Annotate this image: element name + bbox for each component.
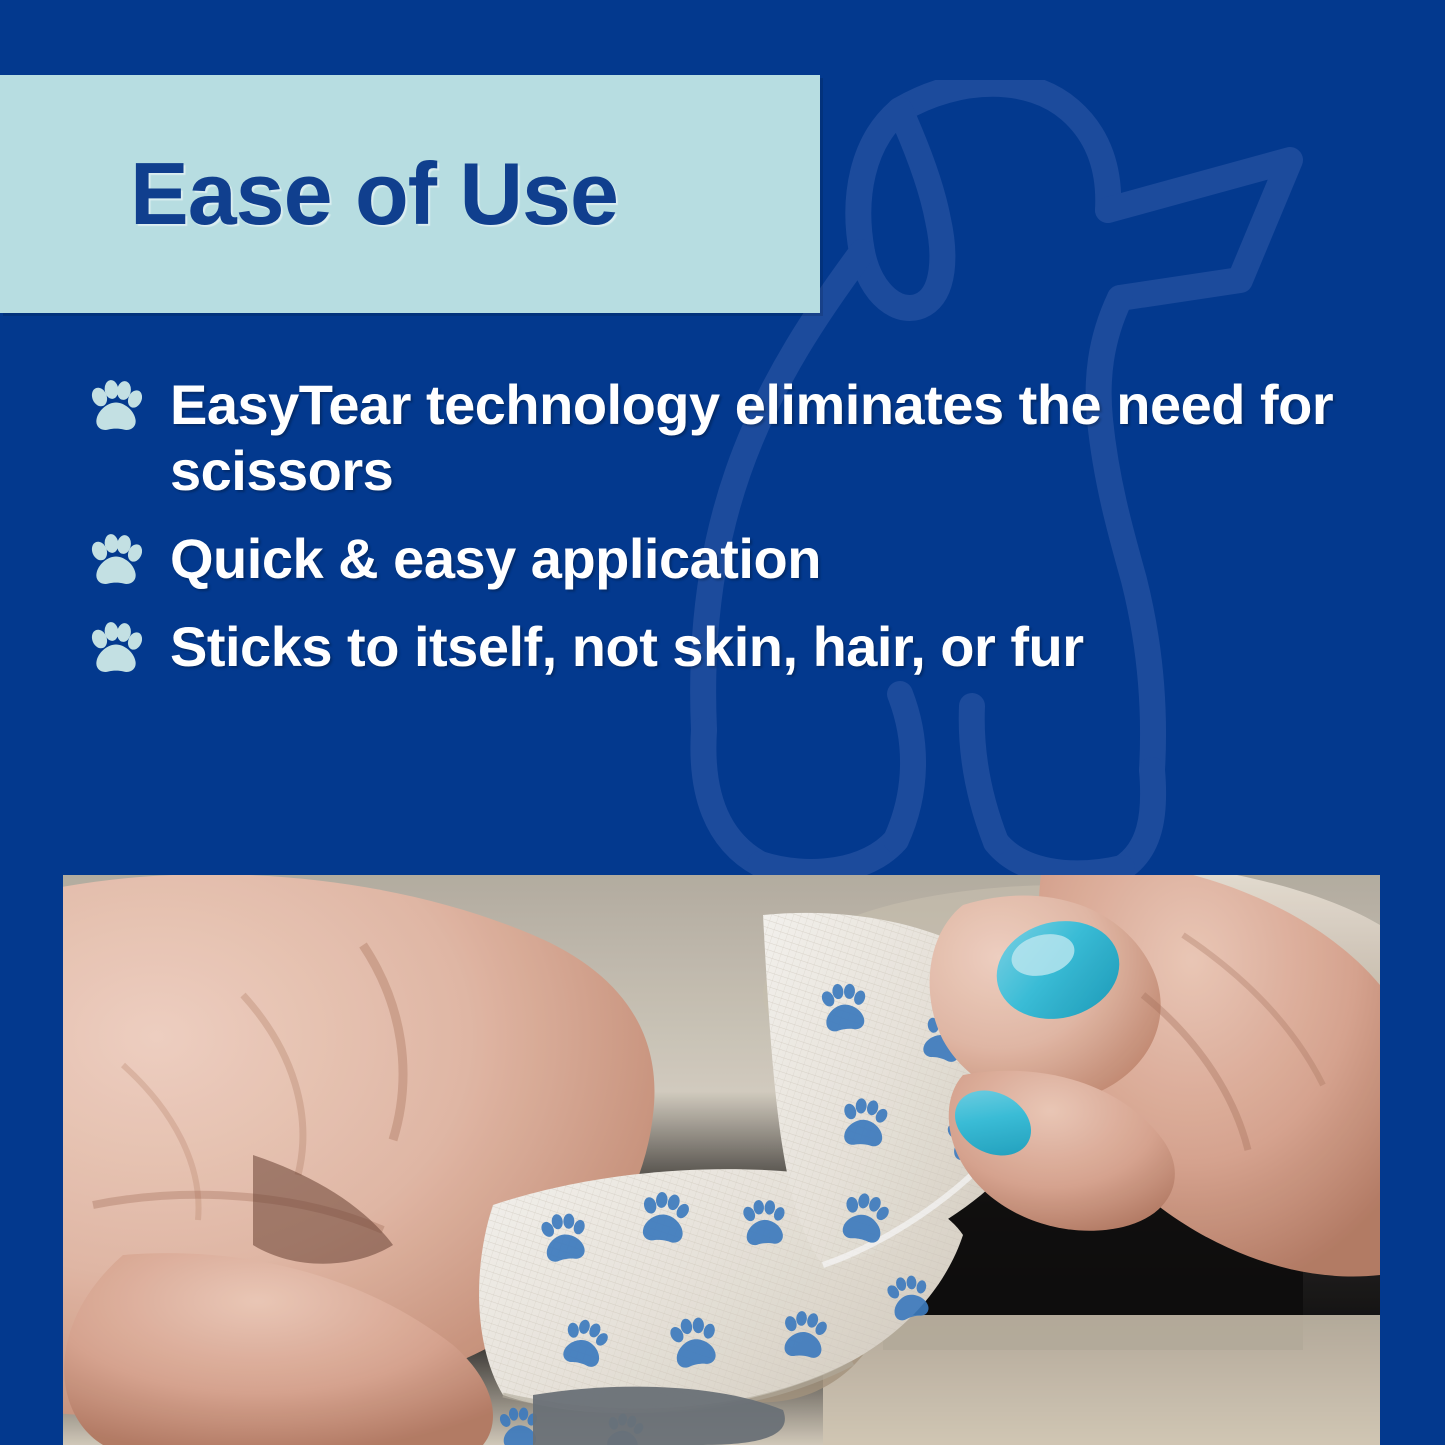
paw-print-icon [90, 622, 142, 676]
page-title: Ease of Use [130, 150, 618, 238]
list-item-label: EasyTear technology eliminates the need … [170, 372, 1390, 504]
paw-print-icon [90, 534, 142, 588]
list-item: EasyTear technology eliminates the need … [90, 372, 1390, 504]
list-item-label: Quick & easy application [170, 526, 821, 592]
headline-banner: Ease of Use [0, 75, 820, 313]
list-item: Quick & easy application [90, 526, 1390, 592]
list-item-label: Sticks to itself, not skin, hair, or fur [170, 614, 1084, 680]
feature-bullet-list: EasyTear technology eliminates the need … [90, 372, 1390, 702]
hands-tearing-paw-print-bandage-photo [63, 875, 1380, 1445]
paw-print-icon [90, 380, 142, 434]
list-item: Sticks to itself, not skin, hair, or fur [90, 614, 1390, 680]
product-feature-infographic: Ease of Use EasyTear technology eliminat… [0, 0, 1445, 1445]
